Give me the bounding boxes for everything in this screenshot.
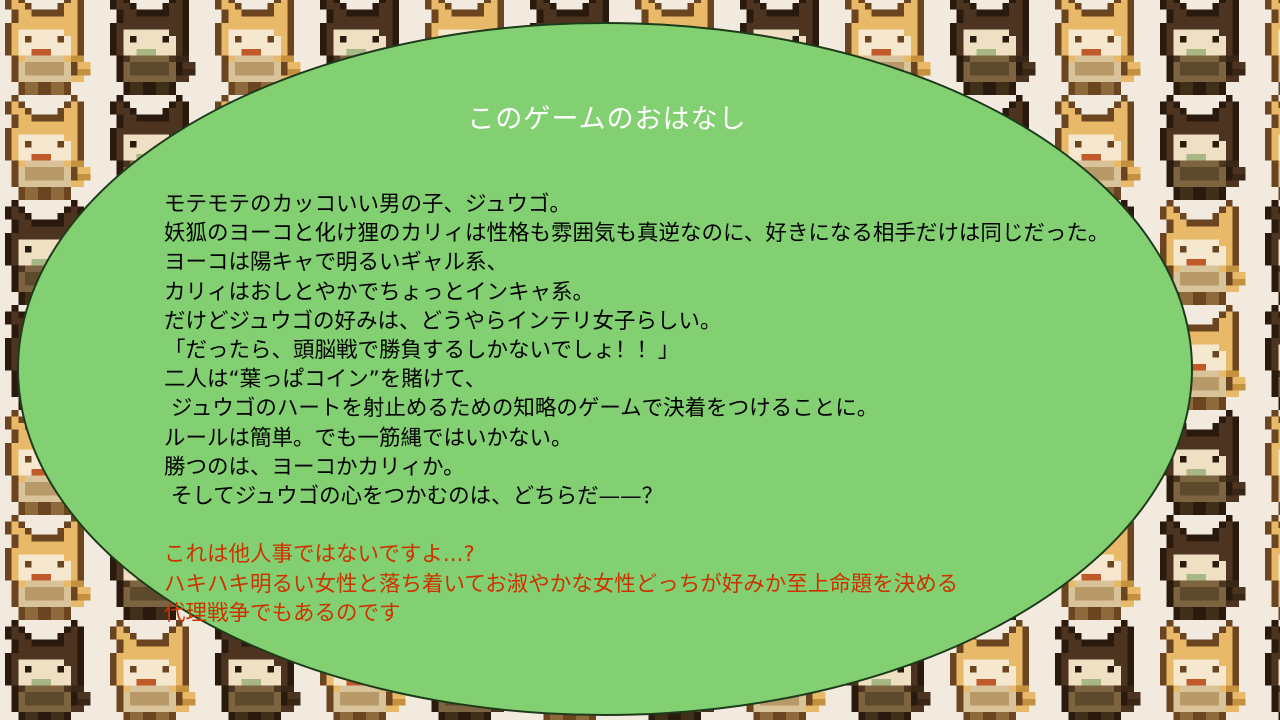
story-line: 妖狐のヨーコと化け狸のカリィは性格も雰囲気も真逆なのに、好きになる相手だけは同じ… <box>164 219 1174 248</box>
background-sprite <box>1147 0 1252 95</box>
pixel-character-sprite <box>1147 620 1252 720</box>
story-line <box>164 511 1174 540</box>
pixel-character-sprite <box>0 620 97 720</box>
pixel-character-sprite <box>1147 0 1252 95</box>
pixel-character-sprite <box>1252 0 1280 95</box>
background-sprite <box>0 515 97 620</box>
pixel-character-sprite <box>1252 95 1280 200</box>
story-line: 代理戦争でもあるのです <box>164 599 1174 628</box>
background-sprite <box>1042 620 1147 720</box>
story-text-block: モテモテのカッコいい男の子、ジュウゴ。妖狐のヨーコと化け狸のカリィは性格も雰囲気… <box>164 190 1174 628</box>
background-sprite <box>1147 620 1252 720</box>
pixel-character-sprite <box>1042 0 1147 95</box>
story-ellipse-panel: このゲームのおはなし モテモテのカッコいい男の子、ジュウゴ。妖狐のヨーコと化け狸… <box>17 22 1193 716</box>
background-sprite <box>97 0 202 95</box>
pixel-character-sprite <box>937 0 1042 95</box>
story-line: モテモテのカッコいい男の子、ジュウゴ。 <box>164 190 1174 219</box>
background-sprite <box>97 620 202 720</box>
pixel-character-sprite <box>0 0 97 95</box>
background-sprite <box>1252 0 1280 95</box>
pixel-character-sprite <box>97 0 202 95</box>
background-sprite <box>1252 95 1280 200</box>
story-line: だけどジュウゴの好みは、どうやらインテリ女子らしい。 <box>164 307 1174 336</box>
background-sprite <box>1252 200 1280 305</box>
story-slide: このゲームのおはなし モテモテのカッコいい男の子、ジュウゴ。妖狐のヨーコと化け狸… <box>0 0 1280 720</box>
story-line: ルールは簡単。でも一筋縄ではいかない。 <box>164 424 1174 453</box>
story-line: そしてジュウゴの心をつかむのは、どちらだ——？ <box>164 482 1174 511</box>
story-line: 勝つのは、ヨーコかカリィか。 <box>164 453 1174 482</box>
page-title: このゲームのおはなし <box>19 104 1195 136</box>
pixel-character-sprite <box>1252 200 1280 305</box>
pixel-character-sprite <box>1252 515 1280 620</box>
story-line: ジュウゴのハートを射止めるための知略のゲームで決着をつけることに。 <box>164 394 1174 423</box>
pixel-character-sprite <box>97 620 202 720</box>
story-line: 「だったら、頭脳戦で勝負するしかないでしょ！！」 <box>164 336 1174 365</box>
background-sprite <box>1252 620 1280 720</box>
background-sprite <box>1042 0 1147 95</box>
background-sprite <box>937 0 1042 95</box>
pixel-character-sprite <box>1042 620 1147 720</box>
story-line: ハキハキ明るい女性と落ち着いてお淑やかな女性どっちが好みか至上命題を決める <box>164 570 1174 599</box>
story-line: カリィはおしとやかでちょっとインキャ系。 <box>164 278 1174 307</box>
background-sprite <box>1252 515 1280 620</box>
pixel-character-sprite <box>1252 620 1280 720</box>
pixel-character-sprite <box>1252 305 1280 410</box>
story-line: これは他人事ではないですよ...? <box>164 540 1174 569</box>
background-sprite <box>1252 410 1280 515</box>
background-sprite <box>0 620 97 720</box>
background-sprite <box>0 0 97 95</box>
story-line: ヨーコは陽キャで明るいギャル系、 <box>164 248 1174 277</box>
pixel-character-sprite <box>0 515 97 620</box>
background-sprite <box>1252 305 1280 410</box>
pixel-character-sprite <box>1252 410 1280 515</box>
story-line: 二人は“葉っぱコイン”を賭けて、 <box>164 365 1174 394</box>
